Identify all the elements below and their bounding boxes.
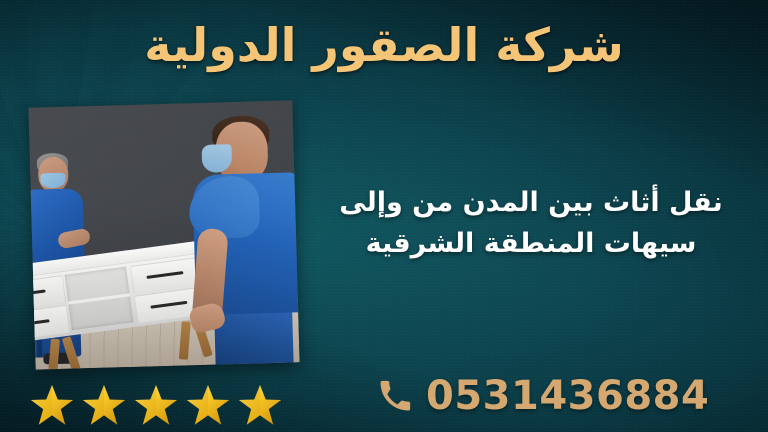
star-icon <box>30 384 74 426</box>
star-icon <box>82 384 126 426</box>
ad-banner: شركة الصقور الدولية <box>0 0 768 432</box>
furniture-open-shelf <box>65 267 134 331</box>
star-icon <box>238 384 282 426</box>
promo-photo <box>28 100 299 369</box>
phone-icon <box>378 379 412 413</box>
service-line-2: سيهات المنطقة الشرقية <box>308 223 754 264</box>
phone-number[interactable]: 0531436884 <box>426 376 709 416</box>
service-line-1: نقل أثاث بين المدن من وإلى <box>308 182 754 223</box>
contact-phone[interactable]: 0531436884 <box>378 376 709 416</box>
rating-stars <box>30 384 282 426</box>
photo-scene <box>28 100 299 369</box>
furniture-drawer <box>28 305 70 339</box>
right-worker-trousers <box>214 306 294 366</box>
star-icon <box>186 384 230 426</box>
service-description: نقل أثاث بين المدن من وإلى سيهات المنطقة… <box>308 182 754 264</box>
company-title: شركة الصقور الدولية <box>0 14 768 77</box>
star-icon <box>134 384 178 426</box>
